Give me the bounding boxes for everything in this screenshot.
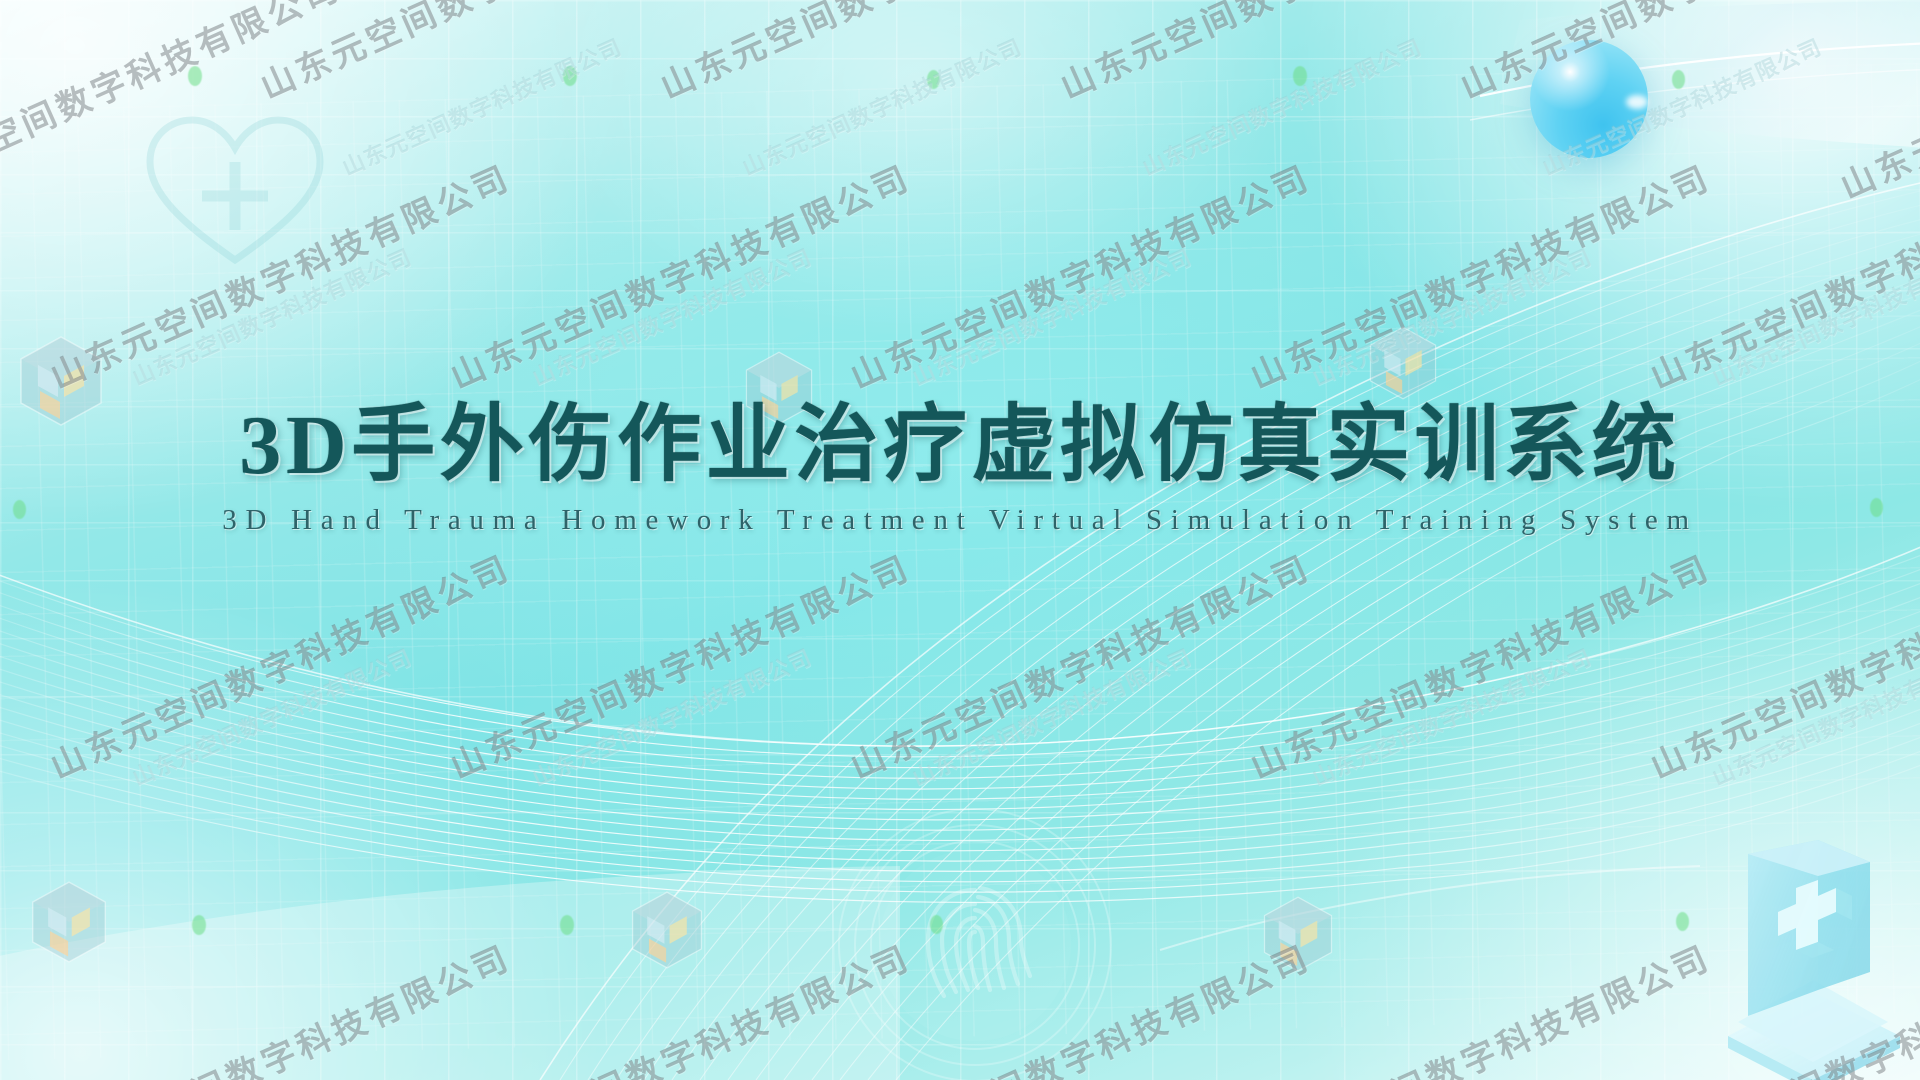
- watermark-text-faint: 山东元空间数字科技有限公司: [736, 30, 1026, 183]
- watermark-text: 山东元空间数字科技有限公司: [441, 541, 917, 789]
- glow-top-center: [538, 0, 1298, 340]
- title-block: 3D手外伤作业治疗虚拟仿真实训系统 3D Hand Trauma Homewor…: [0, 404, 1920, 537]
- fingerprint-icon: [830, 800, 1120, 1080]
- glow-bottom-left: [0, 560, 620, 1080]
- dot-3: [927, 70, 940, 89]
- dot-4: [1293, 66, 1307, 86]
- dot-8: [192, 915, 206, 935]
- cube-center-low: [630, 890, 704, 970]
- watermark-text-faint: 山东元空间数字科技有限公司: [1306, 640, 1596, 793]
- dot-10: [930, 915, 943, 934]
- watermark-text: 山东元空间数字科技有限公司: [1241, 151, 1717, 399]
- watermark-text-faint: 山东元空间数字科技有限公司: [906, 240, 1196, 393]
- watermark-text: 山东元空间数字科技有限公司: [841, 541, 1317, 789]
- dot-11: [1676, 912, 1689, 931]
- medical-shield-3d-icon: [1700, 840, 1920, 1080]
- cube-right-upper: [1368, 325, 1438, 401]
- watermark-text: 山东元空间数字科技有限公司: [41, 931, 517, 1080]
- watermark-text: 山东元空间数字科技有限公司: [1641, 541, 1920, 789]
- heart-cross-icon: [140, 110, 330, 270]
- watermark-text: 山东元空间数字科技有限公司: [1051, 0, 1527, 109]
- watermark-text: 山东元空间数字科技有限公司: [251, 0, 727, 109]
- watermark-text-faint: 山东元空间数字科技有限公司: [906, 640, 1196, 793]
- watermark-text: 山东元空间数字科技有限公司: [651, 0, 1127, 109]
- watermark-text-faint: 山东元空间数字科技有限公司: [336, 30, 626, 183]
- cube-bottom-left: [30, 880, 108, 964]
- dot-9: [560, 915, 574, 935]
- watermark-text-faint: 山东元空间数字科技有限公司: [526, 640, 816, 793]
- dot-2: [563, 66, 577, 86]
- watermark-text: 山东元空间数字科技有限公司: [41, 541, 517, 789]
- watermark-text-faint: 山东元空间数字科技有限公司: [126, 640, 416, 793]
- watermark-text-faint: 山东元空间数字科技有限公司: [1306, 240, 1596, 393]
- watermark-text-faint: 山东元空间数字科技有限公司: [1136, 30, 1426, 183]
- watermark-text: 山东元空间数字科技有限公司: [1641, 151, 1920, 399]
- watermark-text: 山东元空间数字科技有限公司: [1451, 0, 1920, 109]
- dot-1: [188, 66, 202, 86]
- watermark-text: 山东元空间数字科技有限公司: [1831, 0, 1920, 209]
- title-slide-canvas: 山东元空间数字科技有限公司山东元空间数字科技有限公司山东元空间数字科技有限公司山…: [0, 0, 1920, 1080]
- page-subtitle-english: 3D Hand Trauma Homework Treatment Virtua…: [0, 504, 1920, 537]
- dot-5: [1672, 70, 1685, 89]
- watermark-text-faint: 山东元空间数字科技有限公司: [1706, 240, 1920, 393]
- cube-right-lower: [1262, 895, 1334, 973]
- watermark-text: 山东元空间数字科技有限公司: [441, 151, 917, 399]
- page-title-chinese: 3D手外伤作业治疗虚拟仿真实训系统: [0, 404, 1920, 488]
- sphere-highlight: [1626, 95, 1648, 109]
- watermark-text: 山东元空间数字科技有限公司: [841, 151, 1317, 399]
- watermark-text: 山东元空间数字科技有限公司: [1241, 541, 1717, 789]
- watermark-text-faint: 山东元空间数字科技有限公司: [1706, 640, 1920, 793]
